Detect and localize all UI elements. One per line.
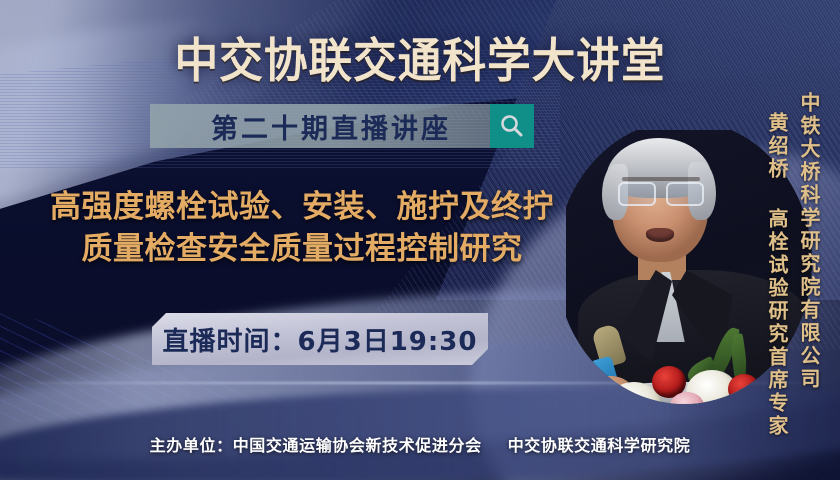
search-icon xyxy=(499,113,525,139)
lecture-title-line-2: 质量检查安全质量过程控制研究 xyxy=(0,228,604,270)
speaker-name-title: 黄绍桥 高栓试验研究首席专家 xyxy=(763,112,792,438)
footer-organizer-2: 中交协联交通科学研究院 xyxy=(508,436,691,455)
footer-organizers: 主办单位：中国交通运输协会新技术促进分会中交协联交通科学研究院 xyxy=(0,432,840,456)
page-title: 中交协联交通科学大讲堂 xyxy=(29,22,810,91)
lecture-title: 高强度螺栓试验、安装、施拧及终拧 质量检查安全质量过程控制研究 xyxy=(0,186,604,270)
webinar-poster: 中交协联交通科学大讲堂 第二十期直播讲座 高强度螺栓试验、安装、施拧及终拧 质量… xyxy=(0,0,840,480)
lecture-title-line-1: 高强度螺栓试验、安装、施拧及终拧 xyxy=(50,189,554,225)
portrait-mouth xyxy=(646,228,674,242)
footer-organizer-1: 中国交通运输协会新技术促进分会 xyxy=(233,436,482,455)
footer-prefix: 主办单位： xyxy=(150,436,233,455)
broadcast-time-label: 直播时间：6月3日19:30 xyxy=(163,321,478,358)
episode-label: 第二十期直播讲座 xyxy=(150,104,490,148)
episode-banner: 第二十期直播讲座 xyxy=(150,104,530,148)
search-button[interactable] xyxy=(490,104,534,148)
broadcast-time-pill: 直播时间：6月3日19:30 xyxy=(152,313,488,365)
speaker-organization: 中铁大桥科学研究院有限公司 xyxy=(795,92,824,391)
glasses-icon xyxy=(618,182,704,204)
portrait-brow xyxy=(622,177,700,181)
